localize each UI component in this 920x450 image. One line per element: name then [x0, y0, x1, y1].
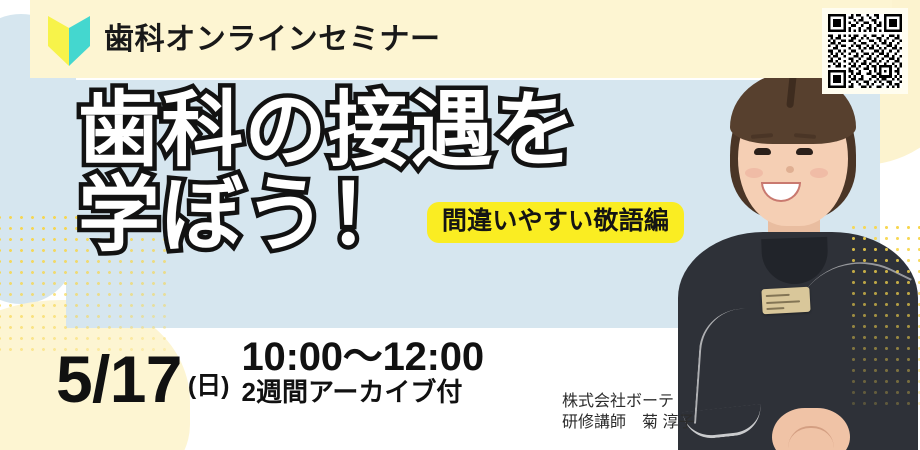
event-time: 10:00〜12:00 [241, 336, 483, 378]
photo-name-badge [761, 287, 810, 314]
headline-line-1: 歯科の接遇を [78, 88, 718, 173]
headline-line-2-row: 学ぼう！ 間違いやすい敬語編 [78, 173, 718, 258]
photo-nose [786, 166, 794, 173]
photo-eye-left [754, 148, 771, 155]
event-time-block: 10:00〜12:00 2週間アーカイブ付 [241, 336, 483, 408]
presenter-name: 研修講師 菊 淳子 [562, 413, 694, 434]
photo-cheek-left [745, 168, 763, 178]
headline-block: 歯科の接遇を 学ぼう！ 間違いやすい敬語編 [78, 88, 718, 259]
photo-cheek-right [810, 168, 828, 178]
archive-note: 2週間アーカイブ付 [241, 378, 483, 408]
presenter-company: 株式会社ボーテ [562, 392, 694, 413]
subtitle-badge: 間違いやすい敬語編 [427, 202, 684, 243]
qr-code[interactable] [822, 8, 908, 94]
header-title: 歯科オンラインセミナー [104, 25, 441, 55]
header-content: 歯科オンラインセミナー [48, 4, 441, 76]
presenter-credit: 株式会社ボーテ 研修講師 菊 淳子 [562, 392, 694, 434]
schedule-block: 5/17 (日) 10:00〜12:00 2週間アーカイブ付 [56, 336, 484, 410]
seminar-banner: 歯科オンラインセミナー [0, 0, 920, 450]
photo-eye-right [796, 148, 813, 155]
headline-line-2: 学ぼう！ [78, 173, 411, 258]
event-date: 5/17 [56, 348, 182, 411]
leaf-logo-icon [48, 14, 90, 66]
event-weekday: (日) [188, 374, 230, 399]
qr-code-icon [828, 14, 902, 88]
